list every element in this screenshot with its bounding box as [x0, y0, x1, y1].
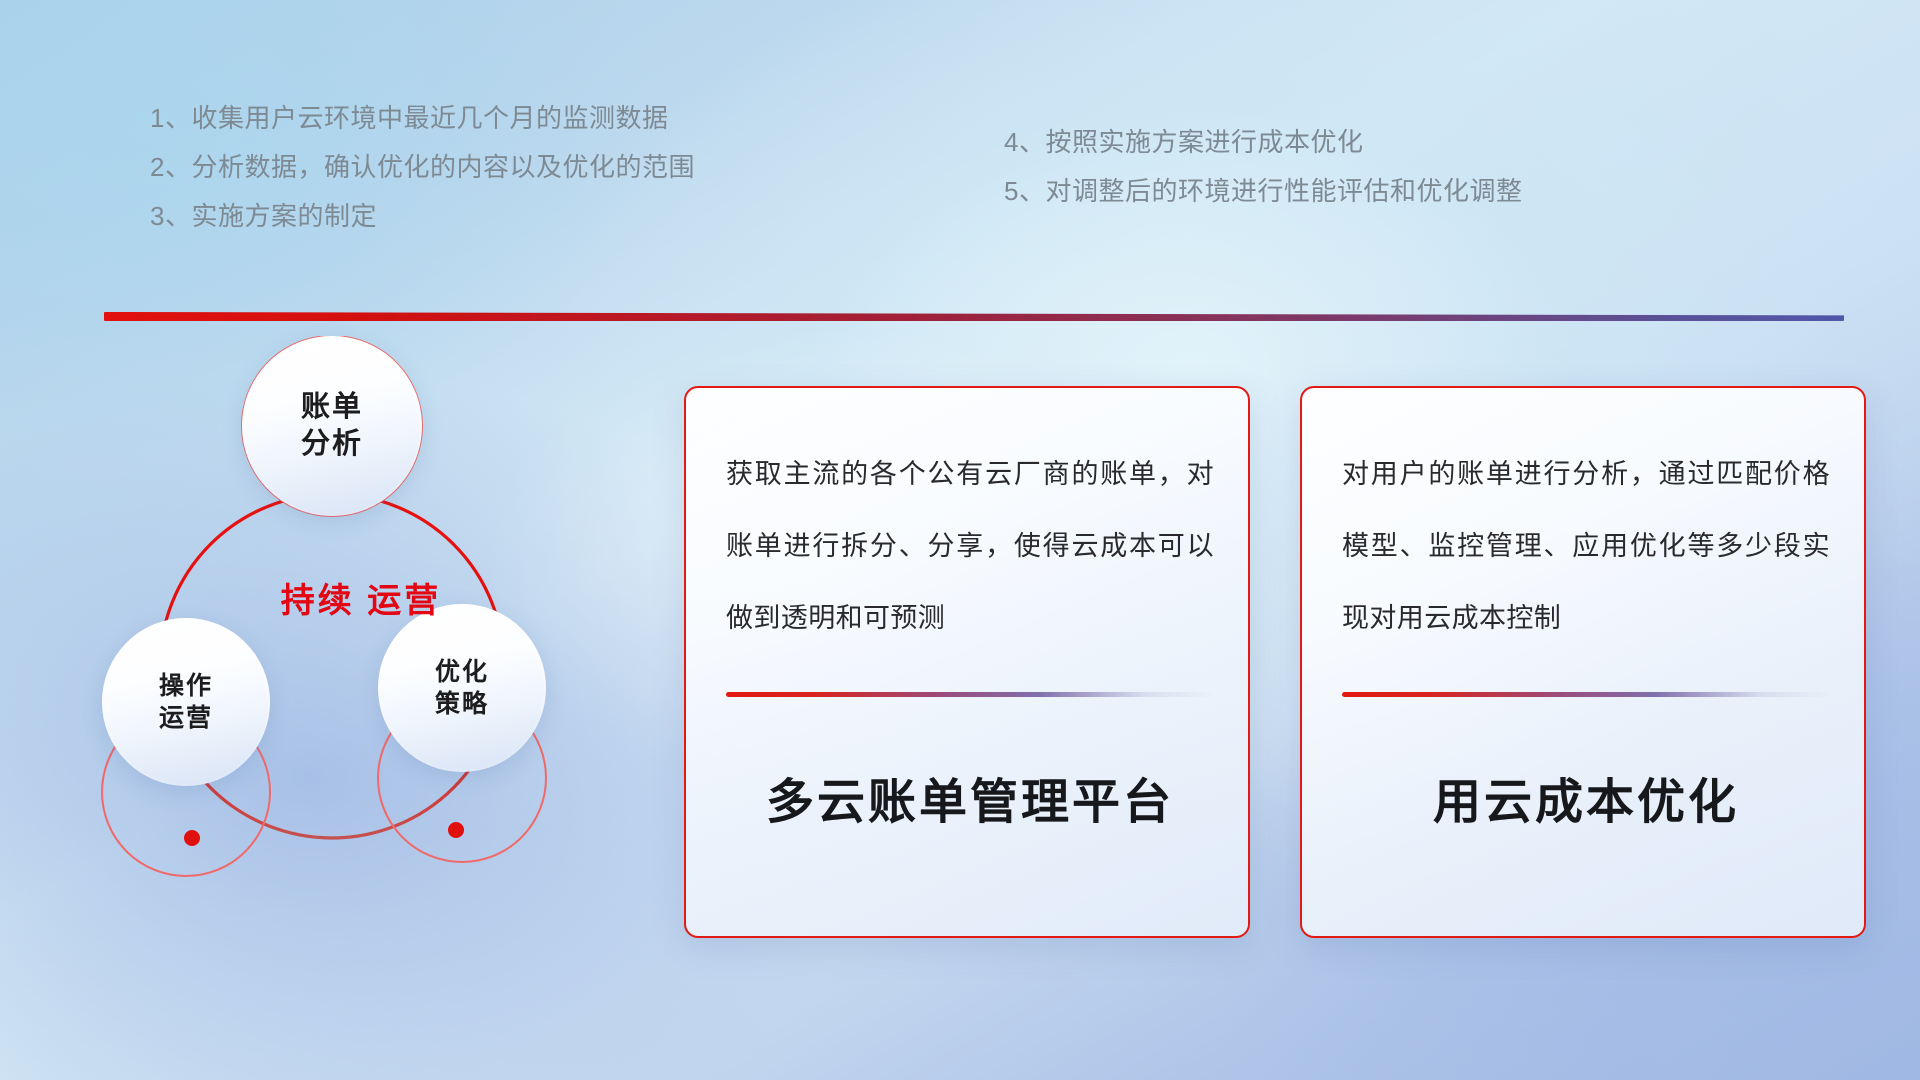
bullet-column-left: 1、收集用户云环境中最近几个月的监测数据 2、分析数据，确认优化的内容以及优化的…: [150, 94, 695, 241]
bullet-column-right: 4、按照实施方案进行成本优化 5、对调整后的环境进行性能评估和优化调整: [1004, 118, 1522, 216]
venn-bubble-optimization-strategy[interactable]: 优化 策略: [378, 604, 546, 772]
venn-node-right: [448, 822, 464, 838]
venn-center-label-line1: 持续: [281, 582, 355, 620]
venn-node-left: [184, 830, 200, 846]
bullet-item: 2、分析数据，确认优化的内容以及优化的范围: [150, 143, 695, 192]
bullet-item: 4、按照实施方案进行成本优化: [1004, 118, 1522, 167]
card-title: 用云成本优化: [1342, 762, 1830, 832]
venn-bubble-label-line2: 策略: [435, 688, 489, 720]
venn-bubble-label-line2: 分析: [301, 426, 363, 463]
card-body-text: 获取主流的各个公有云厂商的账单，对账单进行拆分、分享，使得云成本可以做到透明和可…: [726, 438, 1214, 654]
card-cloud-cost-optimization[interactable]: 对用户的账单进行分析，通过匹配价格模型、监控管理、应用优化等多少段实现对用云成本…: [1300, 386, 1866, 938]
card-accent-rule: [726, 692, 1214, 697]
bullet-lists: 1、收集用户云环境中最近几个月的监测数据 2、分析数据，确认优化的内容以及优化的…: [0, 0, 1920, 260]
bullet-item: 3、实施方案的制定: [150, 192, 695, 241]
bullet-item: 1、收集用户云环境中最近几个月的监测数据: [150, 94, 695, 143]
venn-bubble-operations[interactable]: 操作 运营: [102, 618, 270, 786]
card-title: 多云账单管理平台: [726, 762, 1214, 832]
venn-center-label: 持续 运营: [266, 579, 456, 623]
venn-bubble-billing-analysis[interactable]: 账单 分析: [242, 336, 422, 516]
venn-bubble-label-line1: 优化: [435, 656, 489, 688]
section-divider: [104, 312, 1844, 321]
card-multicloud-billing-platform[interactable]: 获取主流的各个公有云厂商的账单，对账单进行拆分、分享，使得云成本可以做到透明和可…: [684, 386, 1250, 938]
venn-bubble-label-line1: 账单: [301, 389, 363, 426]
card-body-text: 对用户的账单进行分析，通过匹配价格模型、监控管理、应用优化等多少段实现对用云成本…: [1342, 438, 1830, 654]
card-accent-rule: [1342, 692, 1830, 697]
venn-diagram: 账单 分析 操作 运营 优化 策略 持续 运营: [96, 336, 636, 946]
bullet-item: 5、对调整后的环境进行性能评估和优化调整: [1004, 167, 1522, 216]
venn-bubble-label-line2: 运营: [159, 702, 213, 734]
divider-bar: [104, 312, 1844, 321]
venn-center-label-line2: 运营: [367, 582, 441, 620]
venn-bubble-label-line1: 操作: [159, 670, 213, 702]
